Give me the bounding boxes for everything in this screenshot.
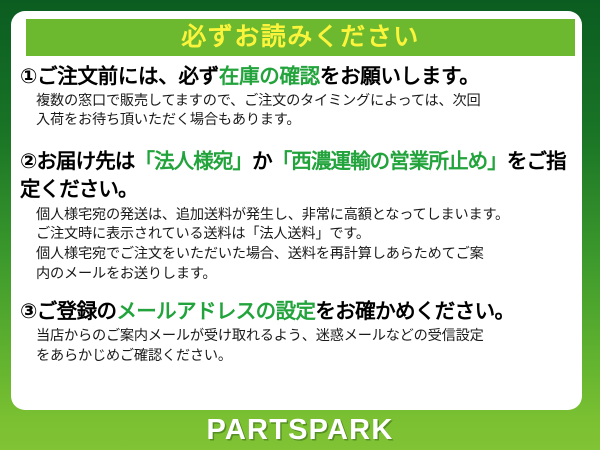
section-3-headline-highlight: メールアドレスの設定 — [116, 300, 315, 323]
section-spacer-1 — [20, 134, 573, 148]
section-1-body-line-2: 入荷をお待ち頂いただく場合もあります。 — [36, 111, 573, 131]
section-3-headline-post: をお確かめください。 — [315, 300, 514, 323]
section-3-number: ③ — [20, 300, 37, 323]
section-3-headline-pre: ご登録の — [37, 300, 117, 323]
notice-section-2: ②お届け先は「法人様宛」か「西濃運輸の営業所止め」をご指定ください。 個人様宅宛… — [20, 148, 573, 284]
section-1-headline: ①ご注文前には、必ず在庫の確認をお願いします。 — [20, 63, 573, 91]
section-3-body-line-2: をあらかじめご確認ください。 — [36, 347, 573, 367]
section-3-body-line-1: 当店からのご案内メールが受け取れるよう、迷惑メールなどの受信設定 — [36, 327, 573, 347]
section-1-headline-pre: ご注文前には、必ず — [37, 65, 219, 88]
brand-logo-text: PARTSPARK — [207, 416, 394, 445]
section-1-number: ① — [20, 65, 37, 88]
section-2-body-line-4: 内のメールをお送りします。 — [36, 265, 573, 285]
header-banner: 必ずお読みください — [26, 19, 575, 56]
section-2-body-line-1: 個人様宅宛の発送は、追加送料が発生し、非常に高額となってしまいます。 — [36, 206, 573, 226]
footer-brand-bar: PARTSPARK — [0, 410, 600, 450]
section-2-number: ② — [20, 150, 36, 173]
section-spacer-2 — [20, 287, 573, 298]
page-title: 必ずお読みください — [181, 25, 420, 50]
section-3-body: 当店からのご案内メールが受け取れるよう、迷惑メールなどの受信設定 をあらかじめご… — [20, 327, 573, 366]
notice-section-1: ①ご注文前には、必ず在庫の確認をお願いします。 複数の窓口で販売してますので、ご… — [20, 63, 573, 131]
section-2-body-line-3: 個人様宅宛でご注文をいただいた場合、送料を再計算しあらためてご案 — [36, 245, 573, 265]
section-1-headline-highlight: 在庫の確認 — [219, 65, 320, 88]
section-1-body: 複数の窓口で販売してますので、ご注文のタイミングによっては、次回 入荷をお待ち頂… — [20, 92, 573, 131]
section-2-headline-mid: か — [252, 150, 272, 173]
notice-poster: 必ずお読みください ①ご注文前には、必ず在庫の確認をお願いします。 複数の窓口で… — [0, 0, 600, 450]
section-2-headline-pre: お届け先は — [36, 150, 134, 173]
section-2-body: 個人様宅宛の発送は、追加送料が発生し、非常に高額となってしまいます。 ご注文時に… — [20, 206, 573, 284]
section-2-body-line-2: ご注文時に表示されている送料は「法人送料」です。 — [36, 225, 573, 245]
notice-section-3: ③ご登録のメールアドレスの設定をお確かめください。 当店からのご案内メールが受け… — [20, 298, 573, 366]
section-2-headline: ②お届け先は「法人様宛」か「西濃運輸の営業所止め」をご指定ください。 — [20, 148, 573, 204]
section-2-headline-highlight: 「法人様宛」 — [134, 150, 252, 173]
section-1-headline-post: をお願いします。 — [320, 65, 480, 88]
notice-card: 必ずお読みください ①ご注文前には、必ず在庫の確認をお願いします。 複数の窓口で… — [11, 11, 582, 410]
notice-content: ①ご注文前には、必ず在庫の確認をお願いします。 複数の窓口で販売してますので、ご… — [11, 63, 582, 369]
section-3-headline: ③ご登録のメールアドレスの設定をお確かめください。 — [20, 298, 573, 326]
section-2-headline-highlight-2: 「西濃運輸の営業所止め」 — [272, 150, 507, 173]
section-1-body-line-1: 複数の窓口で販売してますので、ご注文のタイミングによっては、次回 — [36, 92, 573, 112]
